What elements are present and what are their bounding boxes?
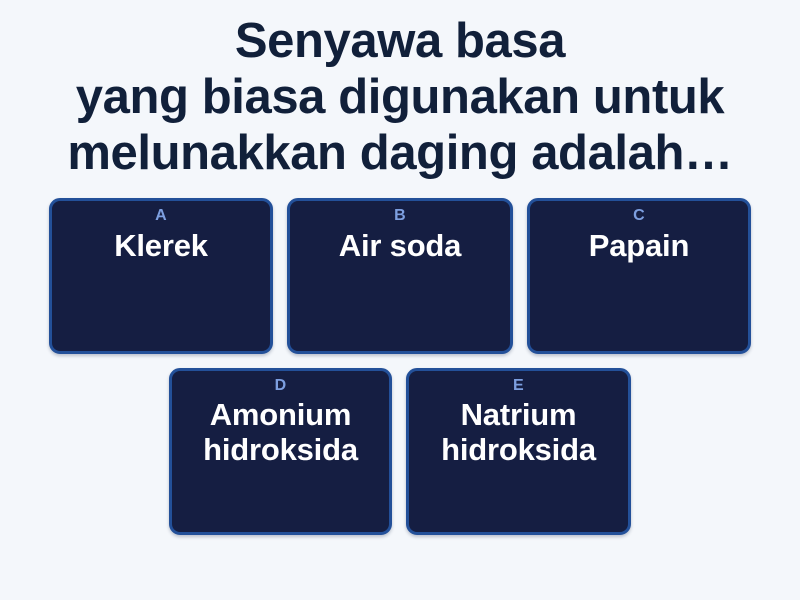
answer-letter-a: A [155, 207, 167, 225]
answer-row-top: A Klerek B Air soda C Papain [0, 198, 800, 354]
answer-text-wrap-c: Papain [540, 224, 738, 340]
answer-text-wrap-e: Natrium hidroksida [419, 394, 618, 521]
answer-text-a: Klerek [114, 228, 208, 263]
answer-option-b[interactable]: B Air soda [287, 198, 513, 354]
answer-text-d: Amonium hidroksida [203, 398, 358, 467]
answer-row-bottom: D Amonium hidroksida E Natrium hidroksid… [0, 368, 800, 535]
answer-letter-d: D [275, 377, 287, 395]
answer-text-c: Papain [589, 228, 689, 263]
answer-text-e: Natrium hidroksida [441, 398, 596, 467]
answer-letter-c: C [633, 207, 645, 225]
question-text: Senyawa basa yang biasa digunakan untuk … [10, 14, 790, 182]
answer-option-a[interactable]: A Klerek [49, 198, 273, 354]
answer-text-wrap-b: Air soda [300, 224, 500, 340]
answer-letter-e: E [513, 377, 524, 395]
answer-option-e[interactable]: E Natrium hidroksida [406, 368, 631, 535]
answer-option-d[interactable]: D Amonium hidroksida [169, 368, 392, 535]
answer-text-wrap-a: Klerek [62, 224, 260, 340]
answer-text-wrap-d: Amonium hidroksida [182, 394, 379, 521]
answer-letter-b: B [394, 207, 406, 225]
answer-text-b: Air soda [339, 228, 461, 263]
answer-option-c[interactable]: C Papain [527, 198, 751, 354]
answer-options: A Klerek B Air soda C Papain D [0, 198, 800, 535]
question-block: Senyawa basa yang biasa digunakan untuk … [10, 14, 790, 182]
quiz-screen: Senyawa basa yang biasa digunakan untuk … [0, 0, 800, 600]
